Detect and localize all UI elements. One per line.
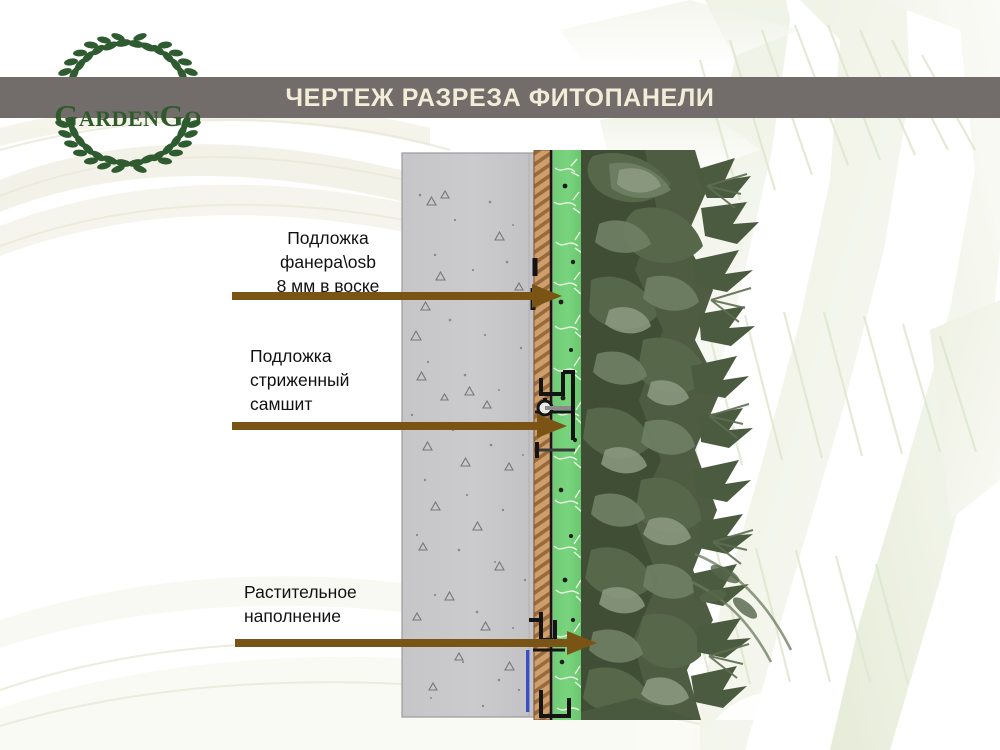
- callout-1-line-2: фанера\osb: [248, 250, 408, 274]
- callout-arrow-2: [232, 413, 567, 439]
- callout-3-line-2: наполнение: [244, 604, 444, 628]
- callout-label-substrate-boxwood: Подложка стриженный самшит: [250, 344, 440, 416]
- callout-label-substrate-plywood: Подложка фанера\osb 8 мм в воске: [248, 226, 408, 298]
- callout-arrow-3: [235, 630, 597, 656]
- slide-canvas: ЧЕРТЕЖ РАЗРЕЗА ФИТОПАНЕЛИ GardenGo: [0, 0, 1000, 750]
- callout-label-plant-filling: Растительное наполнение: [244, 580, 444, 628]
- callout-2-line-2: стриженный: [250, 368, 440, 392]
- callout-3-line-1: Растительное: [244, 580, 444, 604]
- callout-2-line-3: самшит: [250, 392, 440, 416]
- callout-1-line-1: Подложка: [248, 226, 408, 250]
- dark-green-foliage-layer: [581, 150, 815, 720]
- callout-1-line-3: 8 мм в воске: [248, 274, 408, 298]
- brand-logo-text: GardenGo: [28, 94, 228, 138]
- callout-2-line-1: Подложка: [250, 344, 440, 368]
